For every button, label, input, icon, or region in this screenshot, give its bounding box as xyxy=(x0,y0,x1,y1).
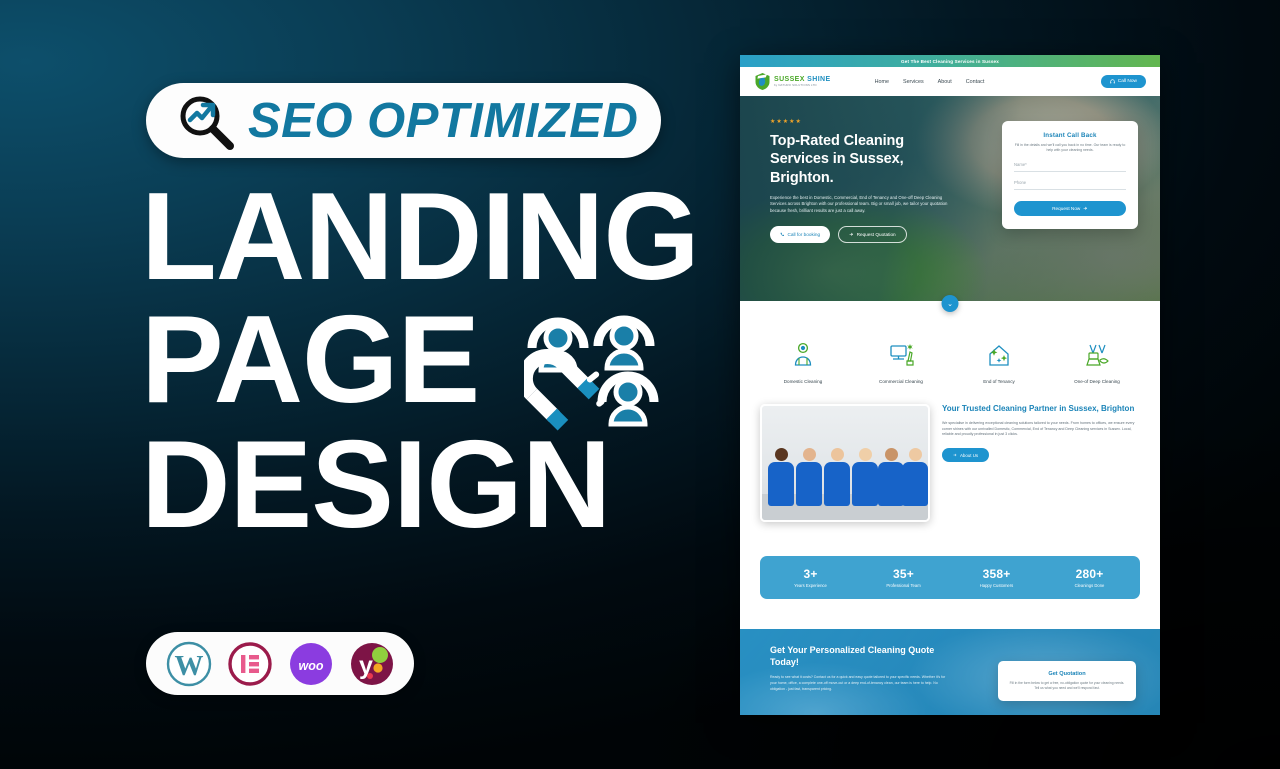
stat-value: 280+ xyxy=(1043,567,1136,581)
form-subtitle: Fill in the details and we'll call you b… xyxy=(1014,143,1126,154)
service-label: Domestic Cleaning xyxy=(754,379,852,384)
domestic-cleaning-icon xyxy=(789,356,817,373)
team-member xyxy=(902,448,928,506)
service-label: Commercial Cleaning xyxy=(852,379,950,384)
nav-item-services[interactable]: Services xyxy=(903,79,924,85)
lead-magnet-icon xyxy=(524,312,666,440)
site-logo[interactable]: SUSSEX SHINE by NATURO SOLUTIONS LTD xyxy=(754,72,831,91)
headset-icon xyxy=(1110,79,1115,84)
chevron-down-icon: ⌄ xyxy=(947,300,953,308)
about-copy: Your Trusted Cleaning Partner in Sussex,… xyxy=(942,404,1140,462)
call-for-booking-button[interactable]: Call for booking xyxy=(770,226,830,243)
announcement-bar: Get The Best Cleaning Services in Sussex xyxy=(740,55,1160,67)
name-field[interactable]: Name* xyxy=(1014,162,1126,172)
team-member xyxy=(852,448,878,506)
stat-years-experience: 3+ Years Experience xyxy=(764,567,857,588)
seo-badge-label: SEO OPTIMIZED xyxy=(248,93,638,149)
yoast-seo-logo: y xyxy=(349,641,395,687)
call-for-booking-label: Call for booking xyxy=(788,232,821,237)
get-quotation-card: Get Quotation Fill in the form below to … xyxy=(998,661,1136,701)
promo-panel: SEO OPTIMIZED LANDING PAGE DESIGN xyxy=(0,0,730,769)
instant-callback-form: Instant Call Back Fill in the details an… xyxy=(1002,121,1138,229)
wordpress-logo: W xyxy=(166,641,212,687)
nav-links: Home Services About Contact xyxy=(875,79,985,85)
arrow-right-icon xyxy=(1083,206,1088,212)
brand-word-1: SUSSEX xyxy=(774,76,805,83)
scroll-down-button[interactable]: ⌄ xyxy=(942,295,959,312)
about-body: We specialise in delivering exceptional … xyxy=(942,421,1140,438)
quotation-body: Fill in the form below to get a free, no… xyxy=(1009,681,1125,691)
quote-cta-section: Get Your Personalized Cleaning Quote Tod… xyxy=(740,629,1160,715)
service-item-tenancy[interactable]: End of Tenancy xyxy=(950,341,1048,384)
commercial-cleaning-icon xyxy=(887,356,915,373)
service-item-domestic[interactable]: Domestic Cleaning xyxy=(754,341,852,384)
phone-field[interactable]: Phone xyxy=(1014,180,1126,190)
stat-value: 358+ xyxy=(950,567,1043,581)
call-now-button[interactable]: Call Now xyxy=(1101,75,1146,88)
form-title: Instant Call Back xyxy=(1014,132,1126,139)
hero-body: Experience the best in Domestic, Commerc… xyxy=(770,195,948,214)
stat-cleanings-done: 280+ Cleanings Done xyxy=(1043,567,1136,588)
woocommerce-logo: woo xyxy=(288,641,334,687)
site-navbar: SUSSEX SHINE by NATURO SOLUTIONS LTD Hom… xyxy=(740,67,1160,96)
brand-names: SUSSEX SHINE by NATURO SOLUTIONS LTD xyxy=(774,76,831,87)
stats-bar: 3+ Years Experience 35+ Professional Tea… xyxy=(760,556,1140,599)
title-line-1: LANDING xyxy=(141,176,721,299)
leaf-shield-logo-icon xyxy=(754,72,771,91)
nav-item-home[interactable]: Home xyxy=(875,79,889,85)
team-member xyxy=(796,448,822,506)
about-us-label: About Us xyxy=(960,453,978,458)
seo-magnifier-chart-icon xyxy=(176,92,238,150)
service-item-deep[interactable]: One-of Deep Cleaning xyxy=(1048,341,1146,384)
service-item-commercial[interactable]: Commercial Cleaning xyxy=(852,341,950,384)
call-now-label: Call Now xyxy=(1118,79,1137,84)
about-us-button[interactable]: About Us xyxy=(942,448,989,462)
stat-label: Professional Team xyxy=(857,583,950,588)
elementor-logo xyxy=(227,641,273,687)
cleaning-team-photo xyxy=(760,404,930,522)
services-row: Domestic Cleaning Commercial Cleaning xyxy=(740,301,1160,400)
seo-optimized-badge: SEO OPTIMIZED xyxy=(146,83,661,158)
stat-label: Happy Customers xyxy=(950,583,1043,588)
stat-label: Years Experience xyxy=(764,583,857,588)
hero-section: ★★★★★ Top-Rated Cleaning Services in Sus… xyxy=(740,96,1160,301)
team-member xyxy=(768,448,794,506)
request-now-button[interactable]: Request Now xyxy=(1014,201,1126,217)
team-member xyxy=(878,448,904,506)
form-submit-label: Request Now xyxy=(1052,206,1080,211)
arrow-right-icon xyxy=(953,453,957,458)
team-member xyxy=(824,448,850,506)
website-mockup: Get The Best Cleaning Services in Sussex… xyxy=(740,55,1160,715)
stat-value: 3+ xyxy=(764,567,857,581)
tech-badges: W woo y xyxy=(146,632,414,695)
svg-text:W: W xyxy=(174,650,203,682)
cta-heading: Get Your Personalized Cleaning Quote Tod… xyxy=(770,645,942,668)
stat-label: Cleanings Done xyxy=(1043,583,1136,588)
cta-body: Ready to see what it costs? Contact us f… xyxy=(770,675,946,692)
request-quotation-button[interactable]: Request Quotation xyxy=(838,226,907,243)
end-of-tenancy-icon xyxy=(985,356,1013,373)
announcement-text: Get The Best Cleaning Services in Sussex xyxy=(901,59,999,64)
nav-item-about[interactable]: About xyxy=(938,79,952,85)
title-line-3: DESIGN xyxy=(141,424,721,547)
about-section: Your Trusted Cleaning Partner in Sussex,… xyxy=(740,400,1160,522)
hero-heading: Top-Rated Cleaning Services in Sussex, B… xyxy=(770,132,946,187)
brand-word-2: SHINE xyxy=(807,76,830,83)
stat-value: 35+ xyxy=(857,567,950,581)
nav-item-contact[interactable]: Contact xyxy=(966,79,985,85)
service-label: One-of Deep Cleaning xyxy=(1048,379,1146,384)
svg-text:woo: woo xyxy=(298,659,323,673)
quotation-title: Get Quotation xyxy=(1009,671,1125,677)
request-quotation-label: Request Quotation xyxy=(857,232,896,237)
about-heading: Your Trusted Cleaning Partner in Sussex,… xyxy=(942,404,1140,415)
stat-happy-customers: 358+ Happy Customers xyxy=(950,567,1043,588)
stat-professional-team: 35+ Professional Team xyxy=(857,567,950,588)
brand-tagline: by NATURO SOLUTIONS LTD xyxy=(774,84,831,87)
arrow-right-icon xyxy=(849,232,854,238)
phone-icon xyxy=(780,232,785,238)
deep-cleaning-icon xyxy=(1083,356,1111,373)
service-label: End of Tenancy xyxy=(950,379,1048,384)
